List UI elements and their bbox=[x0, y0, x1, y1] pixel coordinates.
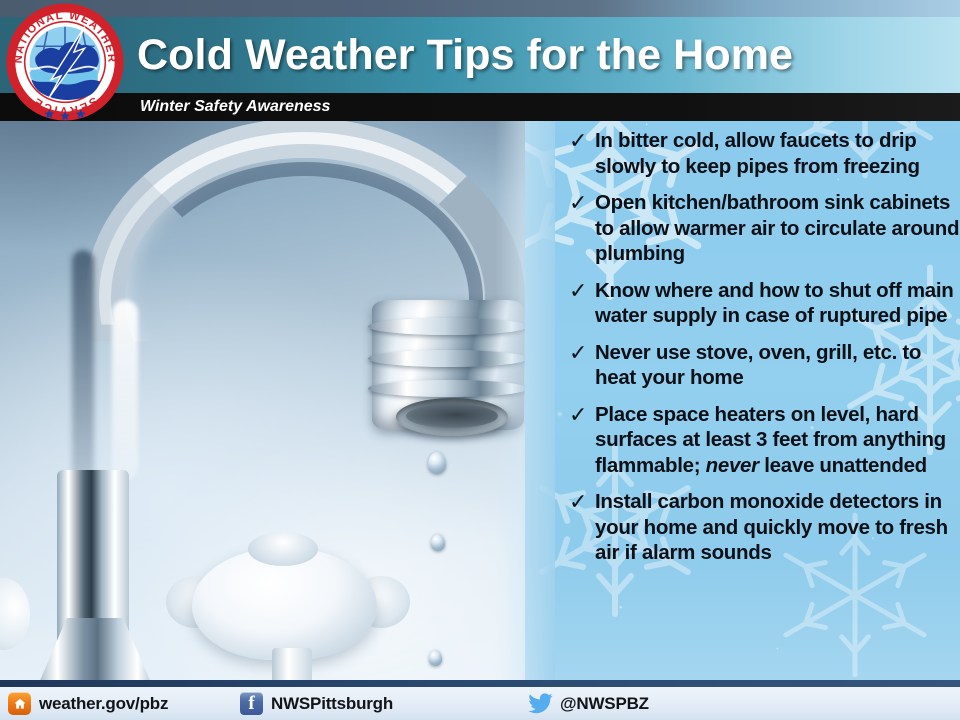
tip-text: Install carbon monoxide detectors in you… bbox=[595, 489, 960, 566]
checkmark-icon: ✓ bbox=[565, 128, 595, 153]
aerator-opening bbox=[396, 398, 508, 436]
tip-text: In bitter cold, allow faucets to drip sl… bbox=[595, 128, 960, 179]
list-item: ✓ Place space heaters on level, hard sur… bbox=[565, 402, 960, 479]
sink-handle-knob bbox=[248, 532, 318, 566]
header-top-strip bbox=[0, 0, 960, 17]
page-title: Cold Weather Tips for the Home bbox=[137, 19, 793, 91]
nws-logo: NATIONAL WEATHER SERVICE bbox=[6, 3, 124, 121]
tip-text: Open kitchen/bathroom sink cabinets to a… bbox=[595, 190, 960, 267]
home-icon bbox=[8, 692, 31, 715]
page-subtitle: Winter Safety Awareness bbox=[140, 93, 330, 121]
footer-twitter-link[interactable]: @NWSPBZ bbox=[527, 692, 649, 715]
footer-website-link[interactable]: weather.gov/pbz bbox=[8, 692, 168, 715]
checkmark-icon: ✓ bbox=[565, 190, 595, 215]
faucet-spout-highlight bbox=[112, 300, 138, 480]
tip-text: Know where and how to shut off main wate… bbox=[595, 278, 960, 329]
water-drop-1 bbox=[428, 452, 446, 474]
water-drop-2 bbox=[431, 534, 445, 551]
infographic-canvas: Cold Weather Tips for the Home Winter Sa… bbox=[0, 0, 960, 720]
water-drop-3 bbox=[429, 650, 442, 666]
list-item: ✓ Open kitchen/bathroom sink cabinets to… bbox=[565, 190, 960, 267]
footer-twitter-label: @NWSPBZ bbox=[560, 694, 649, 714]
tips-list: ✓ In bitter cold, allow faucets to drip … bbox=[565, 128, 960, 577]
list-item: ✓ In bitter cold, allow faucets to drip … bbox=[565, 128, 960, 179]
footer-website-label: weather.gov/pbz bbox=[39, 694, 168, 714]
tip-text: Place space heaters on level, hard surfa… bbox=[595, 402, 960, 479]
checkmark-icon: ✓ bbox=[565, 278, 595, 303]
list-item: ✓ Install carbon monoxide detectors in y… bbox=[565, 489, 960, 566]
footer-divider bbox=[0, 680, 960, 687]
list-item: ✓ Never use stove, oven, grill, etc. to … bbox=[565, 340, 960, 391]
tip-text-emphasis: never bbox=[706, 454, 759, 477]
tip-text: Never use stove, oven, grill, etc. to he… bbox=[595, 340, 960, 391]
checkmark-icon: ✓ bbox=[565, 489, 595, 514]
twitter-bird-icon bbox=[527, 692, 553, 715]
tip-text-after: leave unattended bbox=[759, 454, 927, 477]
checkmark-icon: ✓ bbox=[565, 340, 595, 365]
facebook-icon: f bbox=[240, 692, 263, 715]
faucet-spout-shadow bbox=[72, 250, 94, 490]
footer-bar: weather.gov/pbz f NWSPittsburgh @NWSPBZ bbox=[0, 687, 960, 720]
checkmark-icon: ✓ bbox=[565, 402, 595, 427]
footer-facebook-link[interactable]: f NWSPittsburgh bbox=[240, 692, 393, 715]
list-item: ✓ Know where and how to shut off main wa… bbox=[565, 278, 960, 329]
footer-facebook-label: NWSPittsburgh bbox=[271, 694, 393, 714]
facebook-glyph: f bbox=[240, 693, 263, 715]
